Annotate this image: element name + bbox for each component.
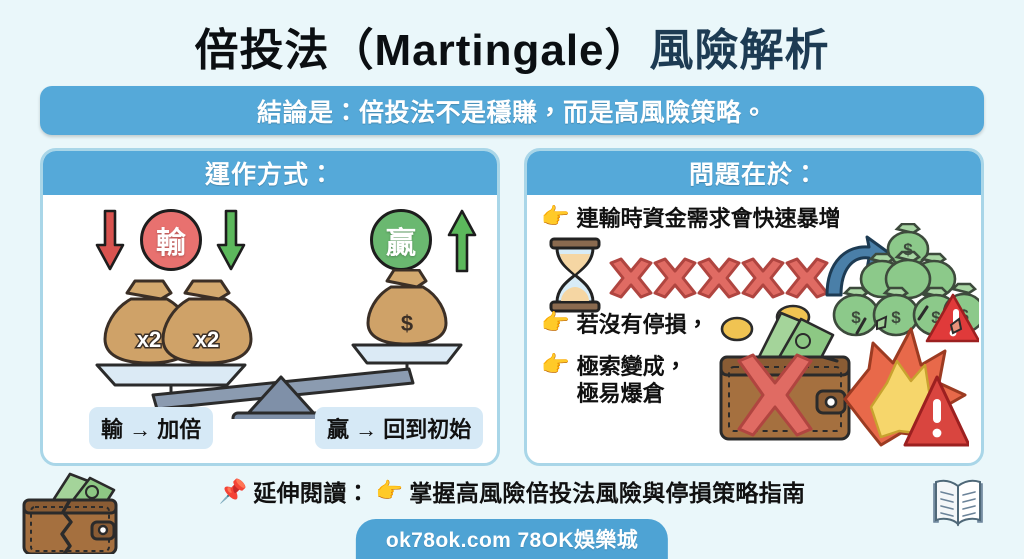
panel-left-header-text: 運作方式： [205,155,335,191]
panel-left-header: 運作方式： [43,151,497,195]
bullet-item-2: 👉 若沒有停損， [541,311,709,338]
brand-badge-text: ok78ok.com 78OK娛樂城 [386,524,638,554]
panel-left-body: 輸 贏 x2 [43,195,497,463]
footer-read-more[interactable]: 📌 延伸閱讀： 👉 掌握高風險倍投法風險與停損策略指南 [0,474,1024,508]
pill-lose-double: 輸 → 加倍 [89,407,213,449]
pointing-hand-icon: 👉 [376,478,403,504]
win-badge: 贏 [370,209,432,271]
panel-how-it-works: 運作方式： 輸 贏 [40,148,500,466]
panel-right-header-text: 問題在於： [689,155,819,191]
lose-badge-text: 輸 [156,218,186,262]
page-title: 倍投法（Martingale）風險解析 [0,14,1024,78]
infographic-canvas: 倍投法（Martingale）風險解析 結論是：倍投法不是穩賺，而是高風險策略。… [0,0,1024,559]
lose-badge: 輸 [140,209,202,271]
bullet-item-3-line2: 極易爆倉 [577,381,665,406]
page-title-main: 倍投法（Martingale） [194,26,649,75]
bullet-item-1-text: 連輸時資金需求會快速暴增 [577,205,841,232]
footer-link-text[interactable]: 掌握高風險倍投法風險與停損策略指南 [409,474,805,508]
pointing-hand-icon: 👉 [541,311,570,334]
bullet-item-2-text: 若沒有停損， [577,311,709,338]
svg-text:$: $ [401,311,413,336]
hourglass-icon [547,237,603,313]
x-mark-2 [655,259,695,297]
pointing-hand-icon: 👉 [541,353,570,376]
x-mark-3 [699,259,739,297]
svg-text:$: $ [903,240,913,259]
down-arrow-green-icon [216,209,246,273]
pushpin-icon: 📌 [219,478,248,505]
bullet-item-1: 👉 連輸時資金需求會快速暴增 [541,205,841,232]
subtitle-banner: 結論是：倍投法不是穩賺，而是高風險策略。 [40,86,984,135]
balance-scale-illustration: x2 x2 $ [57,269,489,419]
wallet-explosion-illustration [705,299,969,449]
bullet-item-3-wrap: 極索變成， 極易爆倉 [577,353,687,408]
panel-right-body: 👉 連輸時資金需求會快速暴增 [527,195,981,463]
bullet-item-3-text: 極索變成， [577,354,687,379]
open-book-icon [928,474,988,528]
pointing-hand-icon: 👉 [541,205,570,228]
x-marks-group [605,257,833,303]
up-arrow-green-icon [447,209,477,273]
money-bag-x2-left-2: x2 [163,281,251,363]
coin-1 [722,318,752,340]
footer-label: 延伸閱讀： [253,474,370,508]
svg-text:x2: x2 [195,327,219,352]
svg-text:x2: x2 [137,327,161,352]
brand-badge[interactable]: ok78ok.com 78OK娛樂城 [356,519,668,559]
down-arrow-red-icon [95,209,125,273]
x-mark-4 [743,259,783,297]
subtitle-text: 結論是：倍投法不是穩賺，而是高風險策略。 [257,93,767,129]
panel-problems: 問題在於： 👉 連輸時資金需求會快速暴增 [524,148,984,466]
bullet-item-3: 👉 極索變成， 極易爆倉 [541,353,687,408]
x-mark-1 [611,259,651,297]
win-badge-text: 贏 [386,218,416,262]
pill-win-reset: 贏 → 回到初始 [315,407,483,449]
money-bag-dollar-right: $ [368,270,446,344]
page-title-accent: 風險解析 [650,26,830,75]
panel-right-header: 問題在於： [527,151,981,195]
